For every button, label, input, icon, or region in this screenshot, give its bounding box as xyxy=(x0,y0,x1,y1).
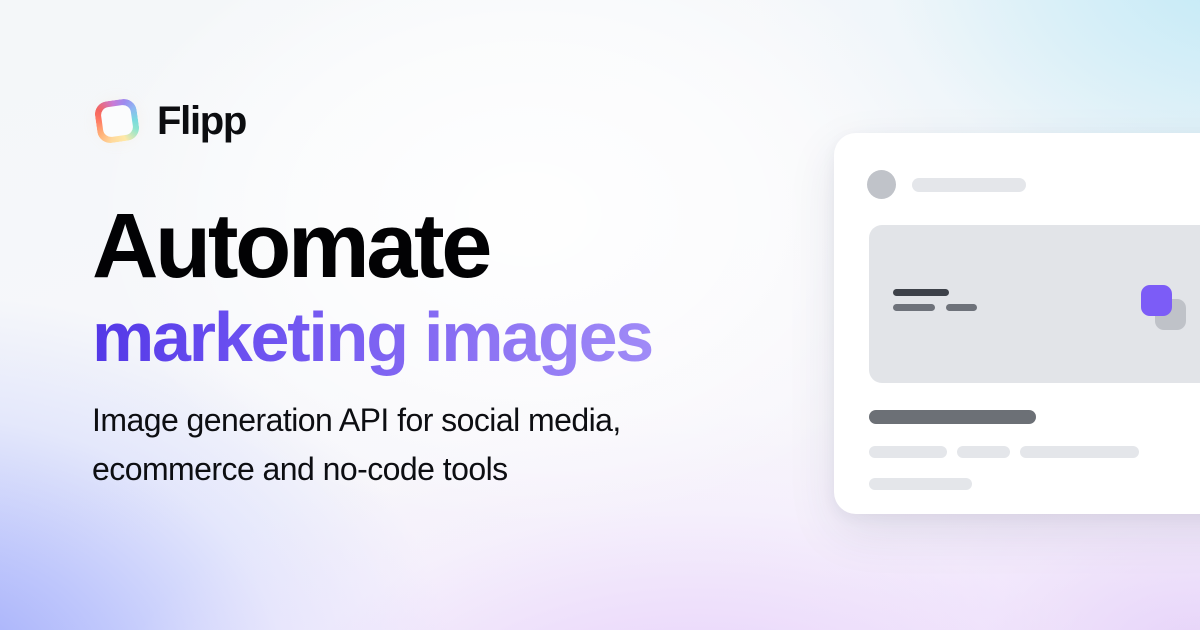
preview-image-title-bar xyxy=(893,289,949,296)
preview-image-placeholder xyxy=(869,225,1200,383)
body-text-chip-1 xyxy=(869,446,947,458)
logo-gradient-ring xyxy=(93,97,140,144)
brand-lockup[interactable]: Flipp xyxy=(92,92,246,150)
preview-image-caption-group xyxy=(893,289,977,311)
headline-line-2-gradient: marketing images xyxy=(92,298,652,376)
brand-name: Flipp xyxy=(157,101,246,141)
og-banner-stage: Flipp Automate marketing images Image ge… xyxy=(0,0,1200,630)
hero-content: Flipp Automate marketing images Image ge… xyxy=(92,0,792,630)
stacked-squares-icon xyxy=(1141,285,1199,331)
preview-image-subtitle-bar-2 xyxy=(946,304,977,311)
page-title: Automate marketing images xyxy=(92,200,792,376)
preview-card xyxy=(834,133,1200,514)
stacked-square-front xyxy=(1141,285,1172,316)
preview-card-body xyxy=(869,410,1200,490)
body-text-row-1 xyxy=(869,446,1200,458)
subtitle-line-2: ecommerce and no-code tools xyxy=(92,445,782,494)
avatar-icon xyxy=(867,170,896,199)
header-title-placeholder xyxy=(912,178,1026,192)
preview-image-subtitle-bar-1 xyxy=(893,304,935,311)
body-text-chip-3 xyxy=(1020,446,1139,458)
headline-line-1: Automate xyxy=(92,200,792,292)
body-text-row-2 xyxy=(869,478,1200,490)
flipp-logo-icon xyxy=(92,96,142,146)
preview-image-subtitle-group xyxy=(893,304,977,311)
preview-card-header xyxy=(867,170,1026,199)
body-title-placeholder xyxy=(869,410,1036,424)
subtitle: Image generation API for social media, e… xyxy=(92,396,782,493)
subtitle-line-1: Image generation API for social media, xyxy=(92,396,782,445)
body-text-chip-4 xyxy=(869,478,972,490)
body-text-chip-2 xyxy=(957,446,1010,458)
